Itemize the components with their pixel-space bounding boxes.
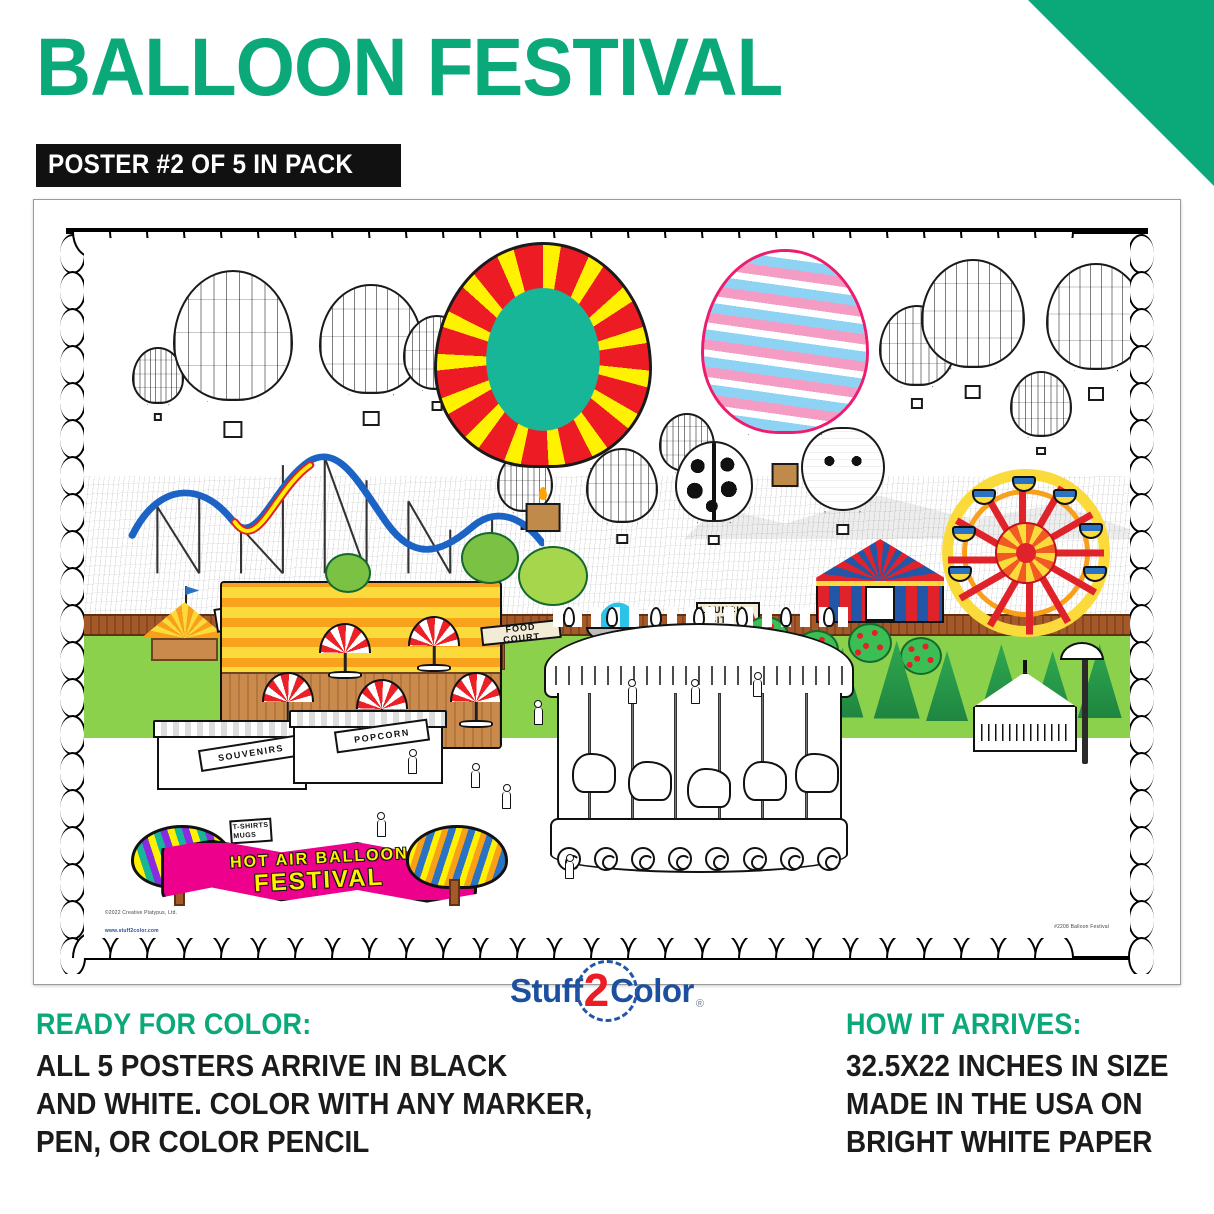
gazebo-roof [973, 672, 1077, 707]
border-scallop [1128, 715, 1154, 755]
border-scallop [1128, 641, 1154, 681]
figure-head [377, 812, 385, 820]
balloon-envelope [434, 242, 652, 468]
ready-for-color-line-3: PEN, OR COLOR PENCIL [36, 1123, 540, 1161]
figure-head [409, 749, 417, 757]
festival-banner: HOT AIR BALLOON FESTIVAL [131, 830, 508, 932]
balloon-basket [911, 398, 923, 408]
figure-head [691, 679, 699, 687]
apple-tree [900, 637, 942, 675]
ready-for-color-block: READY FOR COLOR: ALL 5 POSTERS ARRIVE IN… [36, 1008, 596, 1161]
poster-border-right-scallops [1128, 234, 1154, 974]
balloon-lines [824, 511, 861, 525]
border-scallop [1128, 271, 1154, 311]
poster-number-label: POSTER #2 OF 5 IN PACK [48, 151, 353, 178]
balloon-basket [154, 413, 162, 420]
border-scallop [60, 641, 86, 681]
border-scallop [1128, 419, 1154, 459]
shade-tree [325, 553, 371, 593]
lamp-post [1082, 644, 1088, 764]
carousel-pole [674, 693, 677, 838]
balloon-lines [207, 401, 260, 423]
visitor-figure [565, 854, 574, 880]
balloon-envelope [173, 270, 293, 401]
figure-body [534, 708, 543, 725]
balloon-lines [1074, 370, 1118, 388]
carousel-swirl-ornament [668, 847, 692, 871]
paneled-balloon [1046, 263, 1130, 401]
visitor-figure [691, 679, 700, 705]
carousel-finial [823, 607, 835, 627]
ready-for-color-line-1: ALL 5 POSTERS ARRIVE IN BLACK [36, 1047, 540, 1085]
ready-for-color-line-2: AND WHITE. COLOR WITH ANY MARKER, [36, 1085, 540, 1123]
balloon-lines [348, 394, 394, 412]
border-scallop [60, 308, 86, 348]
border-scallop [60, 382, 86, 422]
carousel-swirl-ornament [594, 847, 618, 871]
balloon-envelope [1046, 263, 1130, 371]
patio-umbrella [319, 623, 371, 653]
balloon-basket [616, 534, 628, 544]
patio-table [459, 720, 493, 728]
balloon-basket [526, 503, 561, 532]
carousel [544, 623, 854, 873]
carousel-horse [687, 768, 731, 808]
border-scallop [60, 530, 86, 570]
border-scallop [1128, 863, 1154, 903]
circus-tent-roof [816, 539, 944, 586]
carousel-pole [718, 693, 721, 838]
visitor-figure [408, 749, 417, 775]
food-court-sign-post [502, 644, 505, 670]
umbrella-canopy [319, 623, 371, 653]
balloon-basket [772, 463, 799, 487]
how-it-arrives-line-1: 32.5X22 INCHES IN SIZE [846, 1047, 1170, 1085]
umbrella-pole [475, 702, 478, 722]
shade-tree [518, 546, 588, 606]
carousel-swirl-ornament [780, 847, 804, 871]
carousel-swirl-ornament [631, 847, 655, 871]
patio-umbrella [262, 672, 314, 702]
figure-head [628, 679, 636, 687]
carousel-swirl-ornament [817, 847, 841, 871]
balloon-basket [708, 535, 720, 545]
carousel-horse [795, 753, 839, 793]
border-scallop [1128, 789, 1154, 829]
border-scallop [1128, 900, 1154, 940]
umbrella-canopy [356, 679, 408, 709]
patio-table [417, 664, 451, 672]
poster-border-left-scallops [60, 234, 86, 974]
gazebo [973, 672, 1077, 752]
carousel-horse [572, 753, 616, 793]
border-scallop [60, 567, 86, 607]
balloon-basket [1088, 387, 1104, 401]
visitor-figure [502, 784, 511, 810]
balloon-ribs [704, 252, 866, 432]
border-scallop [60, 419, 86, 459]
figure-body [628, 687, 637, 704]
umbrella-pole [344, 653, 347, 673]
patio-umbrella [356, 679, 408, 709]
umbrella-canopy [450, 672, 502, 702]
page-title: BALLOON FESTIVAL [36, 24, 782, 112]
balloon-lines [697, 522, 731, 536]
figure-head [754, 672, 762, 680]
sku-fineprint: #2208 Balloon Festival [1054, 924, 1109, 930]
banner-right-balloon [406, 825, 508, 904]
gridded-balloon [173, 270, 293, 438]
logo-word-two: 2 [584, 970, 610, 1011]
border-scallop [60, 456, 86, 496]
burner-flame-icon [539, 487, 547, 500]
border-scallop [1128, 493, 1154, 533]
visitor-figure [753, 672, 762, 698]
circus-tent-entrance [865, 586, 895, 621]
carousel-horse [628, 761, 672, 801]
balloon-lines [950, 368, 996, 386]
border-scallop [1128, 678, 1154, 718]
border-scallop [1128, 530, 1154, 570]
balloon-basket [223, 421, 242, 438]
border-scallop [1128, 826, 1154, 866]
border-scallop [1128, 234, 1154, 274]
banner-post [449, 879, 460, 906]
border-scallop [60, 752, 86, 792]
figure-body [408, 757, 417, 774]
border-scallop [1128, 752, 1154, 792]
figure-head [472, 763, 480, 771]
border-scallop [60, 678, 86, 718]
umbrella-pole [433, 646, 436, 666]
figure-body [565, 862, 574, 879]
border-scallop [60, 493, 86, 533]
border-scallop [1128, 567, 1154, 607]
figure-body [502, 792, 511, 809]
how-it-arrives-line-3: BRIGHT WHITE PAPER [846, 1123, 1170, 1161]
figure-head [534, 700, 542, 708]
carousel-horse [743, 761, 787, 801]
patio-umbrella [408, 616, 460, 646]
border-scallop [60, 789, 86, 829]
carousel-swirl-ornament [743, 847, 767, 871]
figure-body [691, 687, 700, 704]
poster-artwork: RIBS [84, 238, 1130, 938]
border-scallop [60, 715, 86, 755]
carousel-swirl-ornament [705, 847, 729, 871]
pink-blue-striped-balloon [701, 249, 869, 487]
balloon-basket [836, 524, 849, 535]
visitor-figure [471, 763, 480, 789]
balloon-envelope [921, 259, 1025, 368]
visitor-figure [534, 700, 543, 726]
how-it-arrives-heading: HOW IT ARRIVES: [846, 1008, 1170, 1042]
border-scallop [1128, 456, 1154, 496]
gazebo-railing [973, 707, 1077, 752]
balloon-basket [363, 411, 380, 425]
figure-head [566, 854, 574, 862]
umbrella-canopy [408, 616, 460, 646]
gazebo-finial [1023, 660, 1027, 674]
patio-table [328, 671, 362, 679]
ferris-wheel [942, 469, 1110, 637]
balloon-basket [1036, 447, 1046, 455]
how-it-arrives-block: HOW IT ARRIVES: 32.5X22 INCHES IN SIZE M… [846, 1008, 1206, 1161]
ornate-flame-balloon [434, 242, 652, 532]
figure-head [503, 784, 511, 792]
poster-preview: RIBS [33, 199, 1181, 985]
product-marketing-image: BALLOON FESTIVAL POSTER #2 OF 5 IN PACK [0, 0, 1214, 1214]
border-scallop [1128, 382, 1154, 422]
copyright-fineprint: ©2022 Creative Platypus, Ltd. [105, 910, 177, 916]
umbrella-canopy [262, 672, 314, 702]
border-scallop [1128, 308, 1154, 348]
ferris-wheel-hub [995, 522, 1057, 584]
carousel-finial [780, 607, 792, 627]
website-fineprint: www.stuff2color.com [105, 928, 159, 934]
poster-number-badge: POSTER #2 OF 5 IN PACK [36, 144, 401, 187]
visitor-figure [628, 679, 637, 705]
how-it-arrives-line-2: MADE IN THE USA ON [846, 1085, 1170, 1123]
ready-for-color-heading: READY FOR COLOR: [36, 1008, 540, 1042]
poster-sheet: RIBS [44, 210, 1170, 974]
border-scallop [60, 826, 86, 866]
tent-body [151, 638, 218, 661]
border-scallop [60, 345, 86, 385]
registered-trademark-icon: ® [696, 998, 704, 1010]
shade-tree [461, 532, 519, 584]
border-scallop [60, 271, 86, 311]
green-corner-triangle [1028, 0, 1214, 186]
logo-word-stuff: Stuff [510, 972, 583, 1010]
border-scallop [60, 863, 86, 903]
figure-body [753, 680, 762, 697]
balloon-lines [748, 434, 822, 465]
border-scallop [60, 604, 86, 644]
carousel-finial [563, 607, 575, 627]
border-scallop [1128, 604, 1154, 644]
balloon-envelope [701, 249, 869, 435]
patio-umbrella [450, 672, 502, 702]
carousel-finial [606, 607, 618, 627]
figure-body [471, 771, 480, 788]
border-scallop [1128, 345, 1154, 385]
balloon-basket [964, 385, 981, 399]
